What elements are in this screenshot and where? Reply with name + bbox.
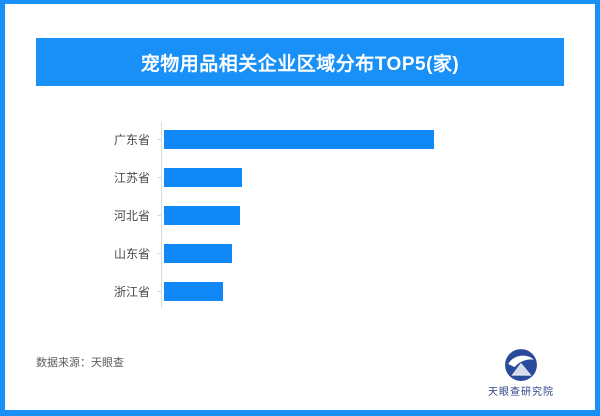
axis-tick-0 xyxy=(157,139,161,140)
brand-logo: 天眼查研究院 xyxy=(473,346,569,398)
axis-tick-4 xyxy=(157,291,161,292)
chart-title: 宠物用品相关企业区域分布TOP5(家) xyxy=(141,49,459,76)
infographic-frame: 宠物用品相关企业区域分布TOP5(家) 广东省 江苏省 河北省 山东省 xyxy=(0,0,600,416)
bar-value-2 xyxy=(164,206,240,225)
bar-value-4 xyxy=(164,282,223,301)
bar-value-3 xyxy=(164,244,232,263)
axis-tick-2 xyxy=(157,215,161,216)
bar-label-1: 江苏省 xyxy=(36,169,150,186)
bar-row[interactable]: 浙江省 xyxy=(36,272,564,310)
brand-name: 天眼查研究院 xyxy=(488,383,554,398)
bar-value-0 xyxy=(164,130,434,149)
infographic-card: 宠物用品相关企业区域分布TOP5(家) 广东省 江苏省 河北省 山东省 xyxy=(5,4,595,410)
bar-chart-plot-area: 广东省 江苏省 河北省 山东省 浙江省 xyxy=(36,120,564,316)
bar-label-4: 浙江省 xyxy=(36,283,150,300)
title-banner: 宠物用品相关企业区域分布TOP5(家) xyxy=(36,38,564,86)
bar-label-2: 河北省 xyxy=(36,207,150,224)
bar-row[interactable]: 广东省 xyxy=(36,120,564,158)
axis-tick-3 xyxy=(157,253,161,254)
axis-tick-1 xyxy=(157,177,161,178)
bar-label-0: 广东省 xyxy=(36,131,150,148)
bar-row[interactable]: 河北省 xyxy=(36,196,564,234)
tianyancha-logo-icon xyxy=(504,348,538,382)
bar-row[interactable]: 山东省 xyxy=(36,234,564,272)
bar-label-3: 山东省 xyxy=(36,245,150,262)
source-note: 数据来源：天眼查 xyxy=(36,354,124,370)
bar-value-1 xyxy=(164,168,242,187)
bar-row[interactable]: 江苏省 xyxy=(36,158,564,196)
